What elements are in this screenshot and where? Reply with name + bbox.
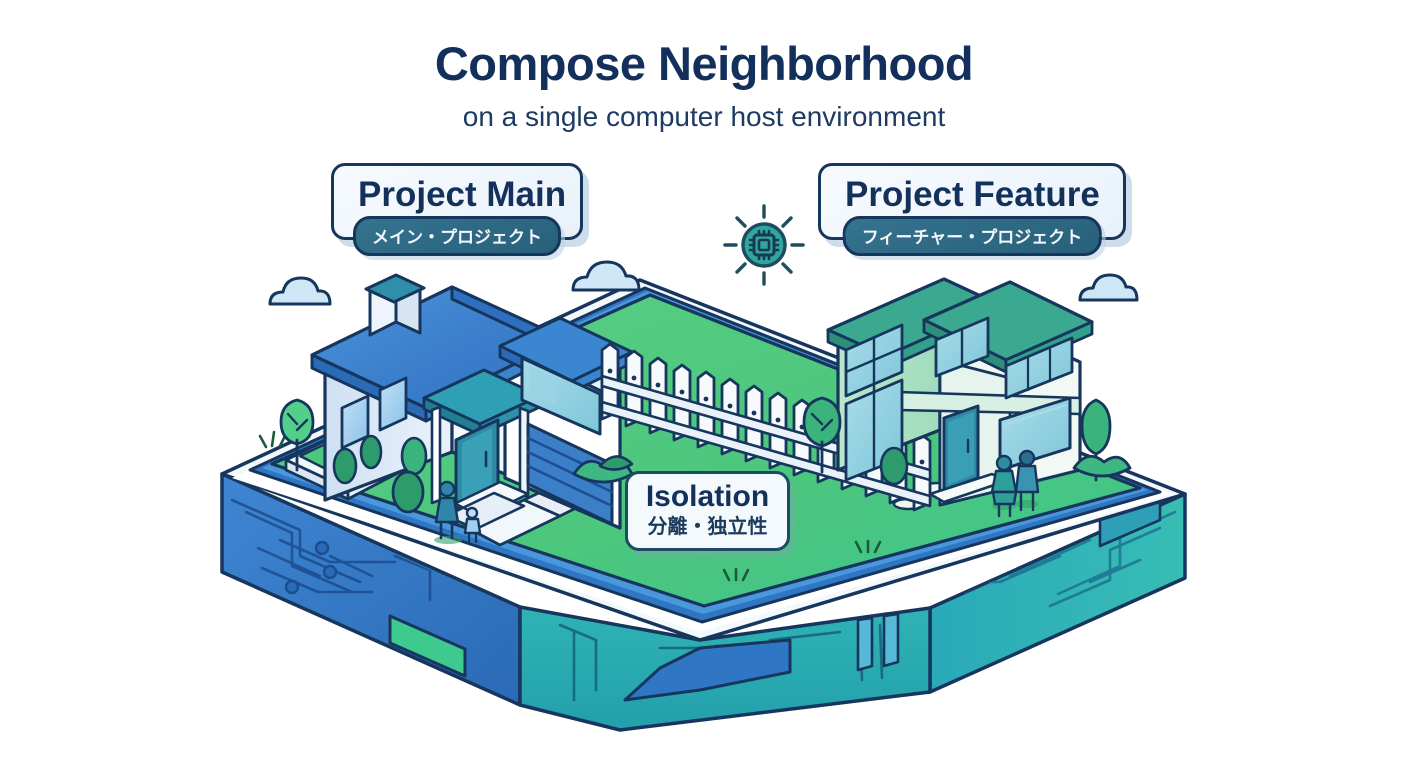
project-main-badge: メイン・プロジェクト	[353, 216, 561, 256]
project-main-title: Project Main	[358, 176, 556, 215]
label-card-project-main[interactable]: Project Main メイン・プロジェクト	[331, 163, 583, 240]
page-title: Compose Neighborhood	[0, 36, 1408, 91]
isolation-title: Isolation	[638, 481, 777, 513]
cloud-center	[573, 262, 639, 290]
label-card-isolation[interactable]: Isolation 分離・独立性	[625, 471, 790, 551]
project-feature-badge: フィーチャー・プロジェクト	[843, 216, 1102, 256]
label-card-project-feature[interactable]: Project Feature フィーチャー・プロジェクト	[818, 163, 1126, 240]
project-feature-title: Project Feature	[845, 176, 1099, 215]
illustration-canvas: Compose Neighborhood on a single compute…	[0, 0, 1408, 768]
isolation-subtitle: 分離・独立性	[638, 515, 777, 539]
cloud-right	[1080, 275, 1137, 300]
cloud-left	[270, 278, 330, 304]
cpu-chip-icon	[722, 203, 806, 287]
house-project-feature	[804, 279, 1130, 505]
page-subtitle: on a single computer host environment	[0, 101, 1408, 133]
